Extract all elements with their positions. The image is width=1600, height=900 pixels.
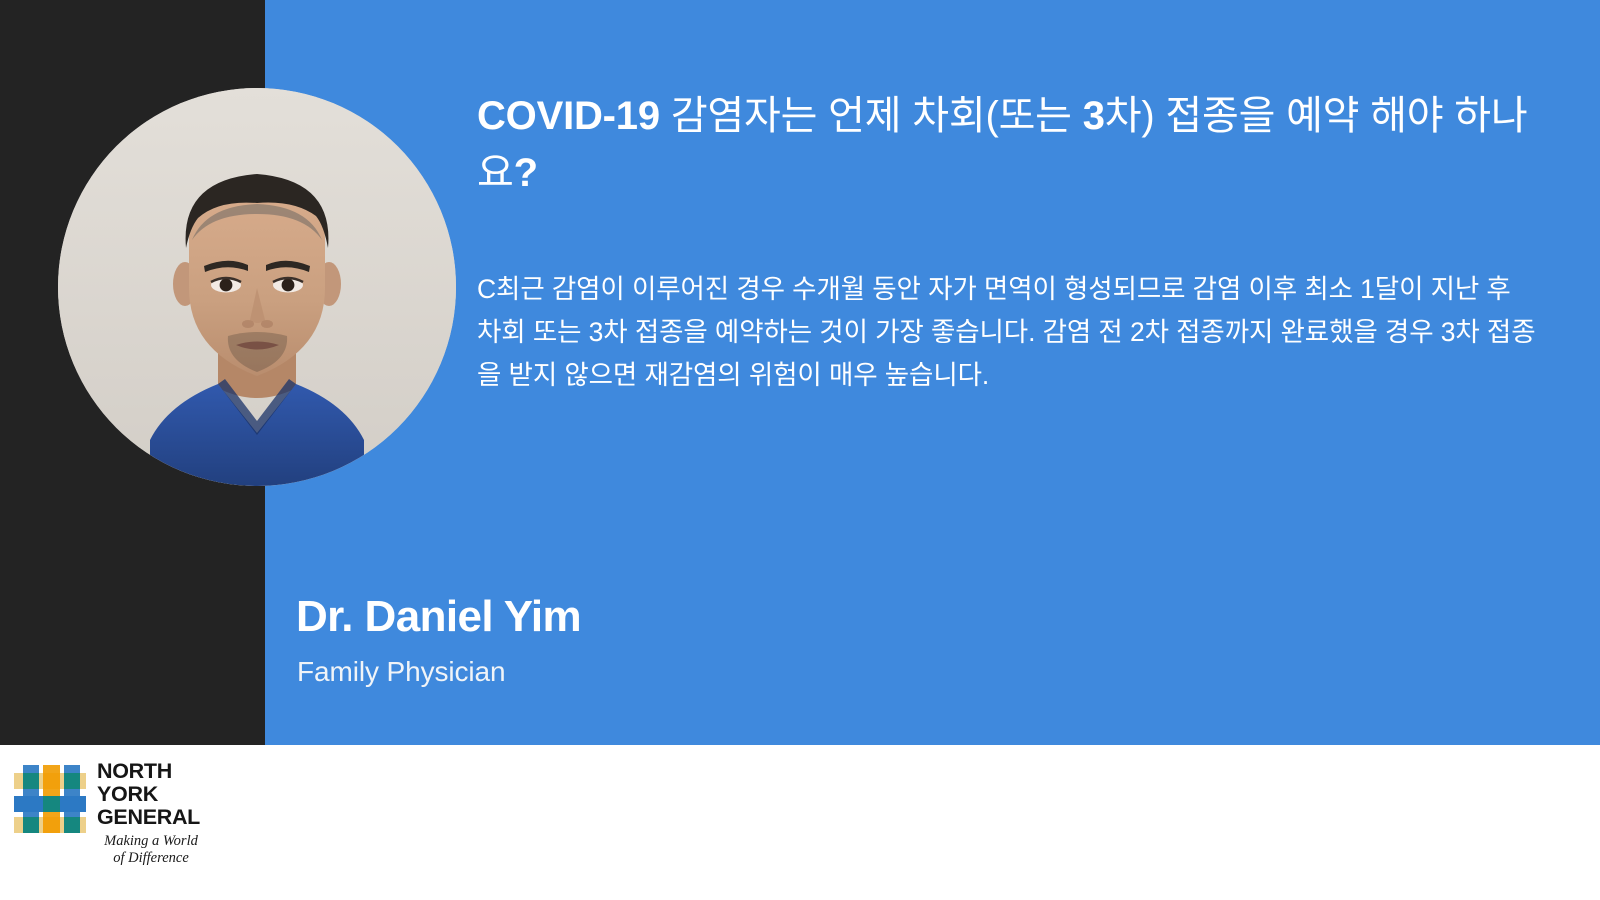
doctor-name: Dr. Daniel Yim bbox=[296, 592, 581, 642]
answer-body: C최근 감염이 이루어진 경우 수개월 동안 자가 면역이 형성되므로 감염 이… bbox=[477, 268, 1539, 397]
nygh-logo: NORTH YORK GENERAL Making a World of Dif… bbox=[14, 759, 205, 866]
slide-stage: COVID-19 감염자는 언제 차회(또는 3차) 접종을 예약 해야 하나요… bbox=[0, 0, 1600, 745]
portrait-illustration bbox=[58, 88, 456, 486]
nygh-line-3: GENERAL bbox=[97, 806, 205, 829]
headline-bold-prefix: COVID-19 bbox=[477, 94, 660, 138]
headline-bold-suffix: ? bbox=[514, 151, 538, 195]
nygh-tagline-1: Making a World bbox=[97, 833, 205, 849]
doctor-role: Family Physician bbox=[297, 656, 505, 688]
slide-root: COVID-19 감염자는 언제 차회(또는 3차) 접종을 예약 해야 하나요… bbox=[0, 0, 1600, 900]
nygh-wordmark: NORTH YORK GENERAL Making a World of Dif… bbox=[97, 760, 205, 866]
doctor-portrait bbox=[58, 88, 456, 486]
headline-bold-mid: 3 bbox=[1083, 94, 1105, 138]
headline: COVID-19 감염자는 언제 차회(또는 3차) 접종을 예약 해야 하나요… bbox=[477, 88, 1532, 202]
nygh-tagline-2: of Difference bbox=[97, 850, 205, 866]
footer-bar: NORTH YORK GENERAL Making a World of Dif… bbox=[0, 745, 1600, 900]
nygh-line-2: YORK bbox=[97, 783, 205, 806]
nygh-mark-icon bbox=[14, 763, 86, 835]
nygh-line-1: NORTH bbox=[97, 760, 205, 783]
headline-mid: 감염자는 언제 차회(또는 bbox=[660, 94, 1083, 138]
